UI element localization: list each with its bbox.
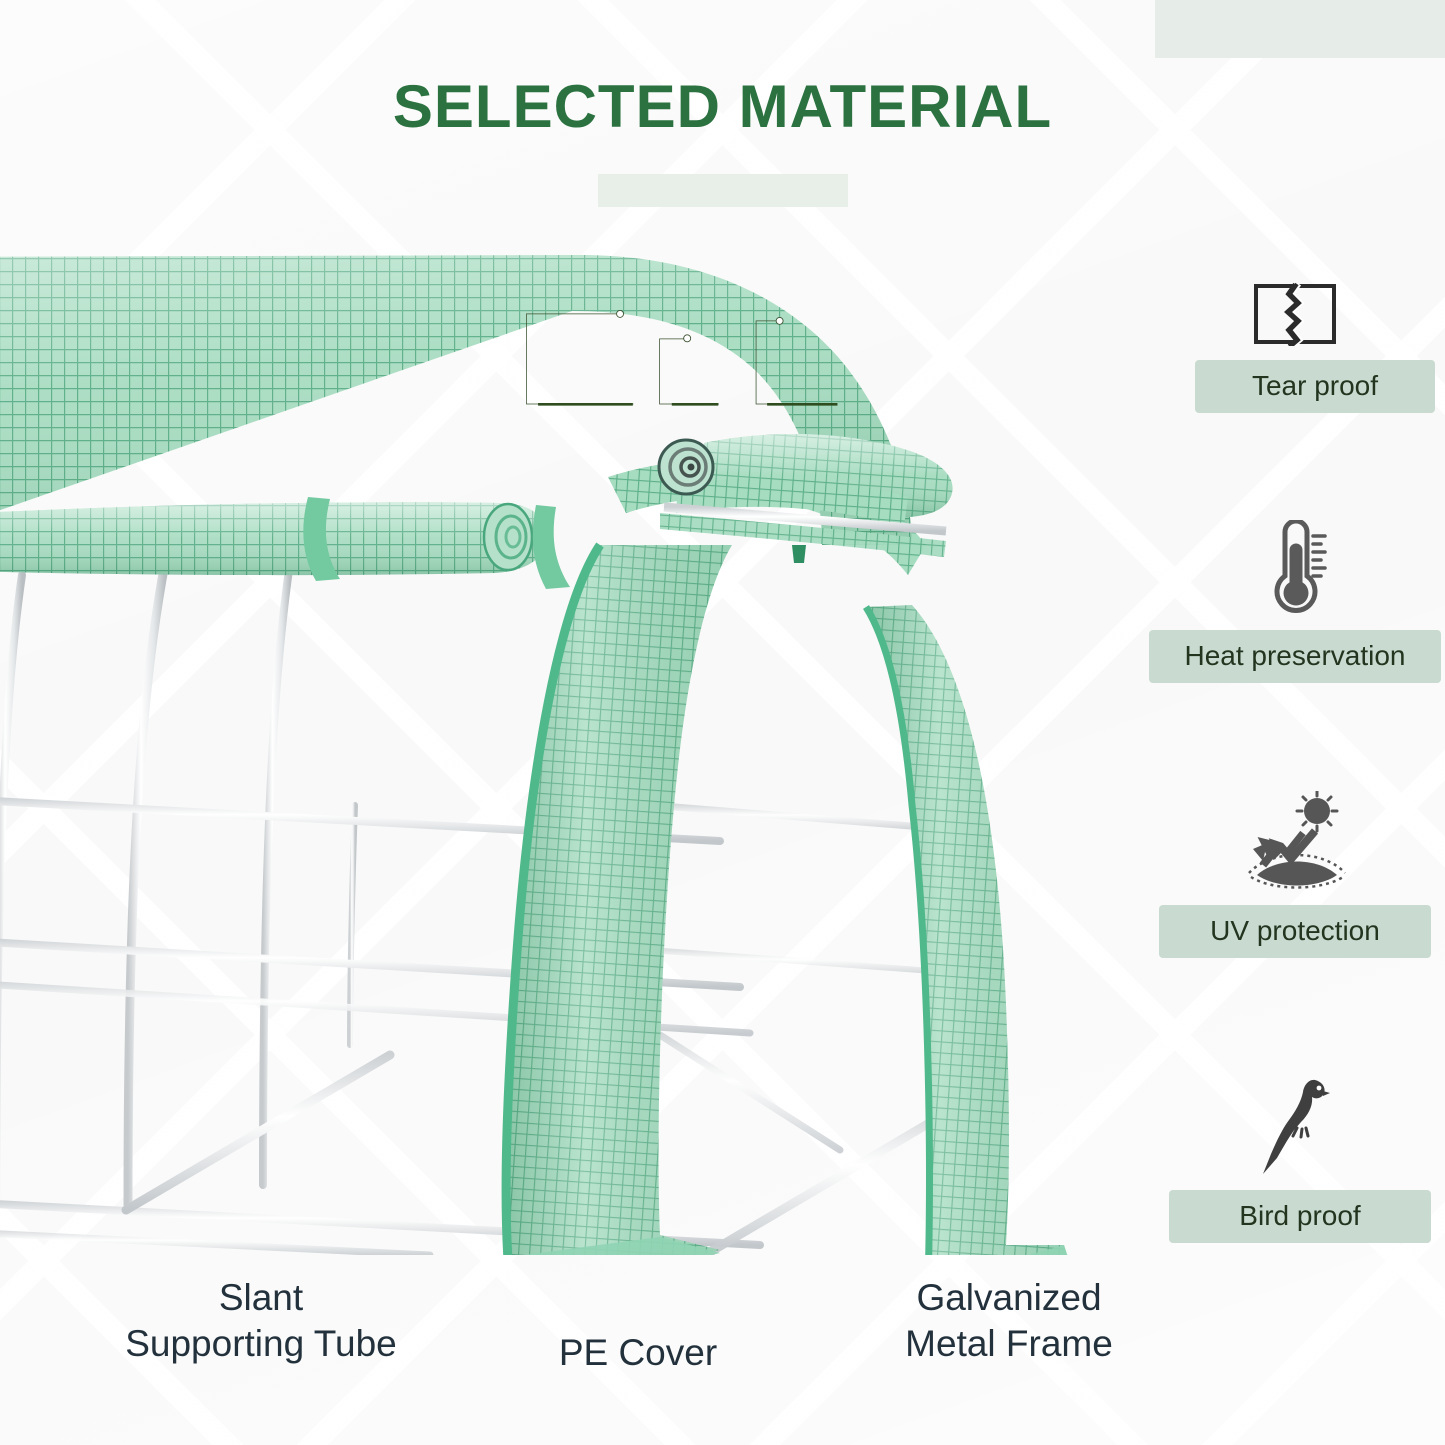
bird-icon bbox=[1145, 1080, 1445, 1176]
callout-layer bbox=[0, 0, 1445, 420]
feature-label-bird-proof: Bird proof bbox=[1169, 1190, 1431, 1243]
feature-bird-proof[interactable]: Bird proof bbox=[1145, 1080, 1445, 1243]
callout-bracket-pe-cover bbox=[660, 339, 719, 404]
thermometer-icon bbox=[1145, 520, 1445, 616]
slant-supporting-tube bbox=[126, 1055, 390, 1210]
feature-uv-protection[interactable]: UV protection bbox=[1145, 795, 1445, 958]
callout-label-galvanized-metal-frame: Galvanized Metal Frame bbox=[885, 1275, 1133, 1368]
internal-frame-tubes bbox=[0, 563, 960, 1255]
callout-marker-slant-supporting-tube bbox=[617, 310, 624, 317]
callout-marker-pe-cover bbox=[684, 335, 691, 342]
callout-label-slant-supporting-tube: Slant Supporting Tube bbox=[96, 1275, 426, 1368]
right-arch-leg bbox=[866, 605, 1078, 1255]
infographic-canvas: SELECTED MATERIAL bbox=[0, 0, 1445, 1445]
callout-label-pe-cover: PE Cover bbox=[548, 1330, 728, 1376]
feature-label-heat-preservation: Heat preservation bbox=[1149, 630, 1441, 683]
callout-marker-galvanized-metal-frame bbox=[776, 317, 783, 324]
front-arch-door-frame bbox=[506, 459, 926, 1255]
feature-heat-preservation[interactable]: Heat preservation bbox=[1145, 520, 1445, 683]
callout-bracket-slant-supporting-tube bbox=[526, 314, 633, 404]
callout-bracket-galvanized-metal-frame bbox=[756, 321, 837, 404]
feature-label-uv-protection: UV protection bbox=[1159, 905, 1431, 958]
uv-shield-icon bbox=[1145, 795, 1445, 891]
